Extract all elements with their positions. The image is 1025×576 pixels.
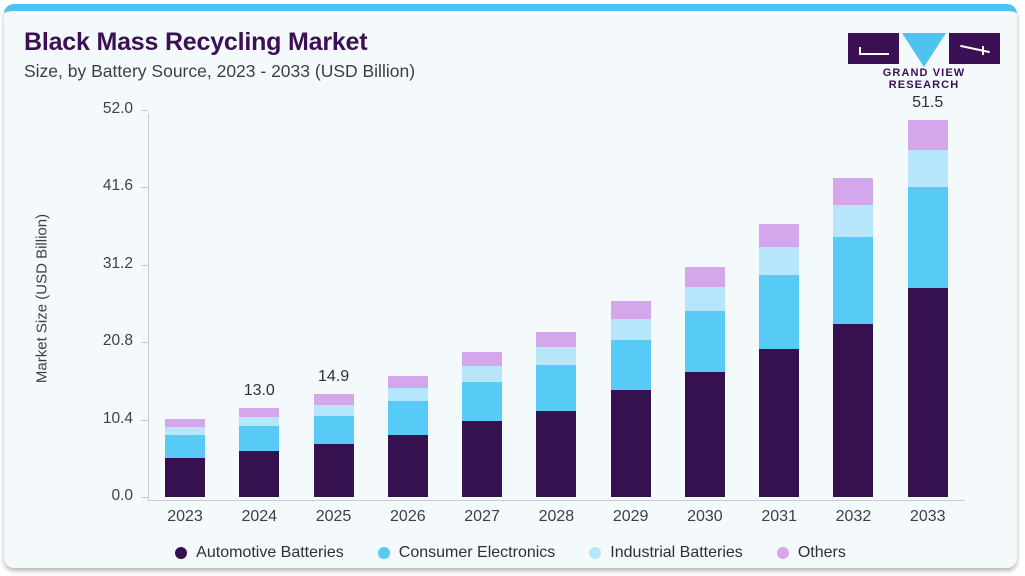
stacked-bar[interactable]: [314, 394, 354, 497]
y-axis-tick-label: 41.6: [45, 177, 133, 195]
legend-item[interactable]: Others: [777, 544, 846, 562]
bar-group[interactable]: 2027: [445, 114, 519, 501]
legend-color-dot-icon: [378, 547, 390, 559]
plot-area: 0.010.420.831.241.652.0 202313.0202414.9…: [148, 114, 965, 505]
bar-segment[interactable]: [908, 150, 948, 187]
logo-text: GRAND VIEW RESEARCH: [848, 67, 1000, 91]
stacked-bar[interactable]: [536, 332, 576, 497]
stacked-bar-chart: Market Size (USD Billion) 0.010.420.831.…: [4, 95, 1017, 568]
y-axis-tick-mark: [141, 110, 148, 111]
bar-group[interactable]: 13.02024: [222, 114, 296, 501]
stacked-bar[interactable]: [685, 267, 725, 497]
bar-segment[interactable]: [388, 376, 428, 388]
bar-segment[interactable]: [611, 301, 651, 319]
bar-segment[interactable]: [165, 419, 205, 427]
bar-segment[interactable]: [165, 427, 205, 435]
legend-item[interactable]: Consumer Electronics: [378, 544, 556, 562]
bar-segment[interactable]: [388, 435, 428, 498]
bar-segment[interactable]: [536, 332, 576, 348]
legend-item[interactable]: Industrial Batteries: [589, 544, 743, 562]
bar-group[interactable]: 14.92025: [297, 114, 371, 501]
legend-color-dot-icon: [175, 547, 187, 559]
bar-segment[interactable]: [462, 366, 502, 382]
legend-item[interactable]: Automotive Batteries: [175, 544, 344, 562]
logo-marks: [848, 33, 1000, 64]
bar-segment[interactable]: [239, 451, 279, 497]
bar-segment[interactable]: [165, 458, 205, 497]
legend-item-label: Consumer Electronics: [399, 544, 556, 562]
bar-segment[interactable]: [833, 237, 873, 325]
bar-group[interactable]: 51.52033: [891, 114, 965, 501]
stacked-bar[interactable]: [239, 408, 279, 497]
bars-container: 202313.0202414.9202520262027202820292030…: [148, 114, 965, 501]
bar-segment[interactable]: [685, 372, 725, 497]
chart-header: Black Mass Recycling Market Size, by Bat…: [4, 11, 1017, 95]
bar-group[interactable]: 2031: [742, 114, 816, 501]
bar-segment[interactable]: [314, 416, 354, 444]
bar-group[interactable]: 2032: [816, 114, 890, 501]
y-axis-tick-label: 10.4: [45, 410, 133, 428]
y-axis-tick-label: 52.0: [45, 100, 133, 118]
bar-value-label: 14.9: [287, 368, 381, 386]
bar-segment[interactable]: [388, 388, 428, 401]
logo-block-left-icon: [848, 33, 899, 64]
bar-segment[interactable]: [908, 120, 948, 150]
stacked-bar[interactable]: [833, 178, 873, 497]
legend-item-label: Others: [798, 544, 846, 562]
stacked-bar[interactable]: [462, 352, 502, 497]
y-axis-tick-mark: [141, 420, 148, 421]
bar-segment[interactable]: [759, 224, 799, 247]
bar-segment[interactable]: [314, 405, 354, 416]
bar-segment[interactable]: [239, 408, 279, 417]
x-axis-tick-label: 2033: [881, 508, 975, 526]
bar-segment[interactable]: [611, 390, 651, 497]
bar-segment[interactable]: [462, 421, 502, 497]
bar-group[interactable]: 2029: [594, 114, 668, 501]
y-axis-tick-label: 20.8: [45, 332, 133, 350]
bar-segment[interactable]: [833, 324, 873, 497]
bar-segment[interactable]: [536, 365, 576, 410]
bar-segment[interactable]: [536, 411, 576, 497]
bar-segment[interactable]: [833, 205, 873, 237]
chart-card: Black Mass Recycling Market Size, by Bat…: [4, 4, 1017, 568]
bar-group[interactable]: 2028: [519, 114, 593, 501]
logo-block-right-icon: [949, 33, 1000, 64]
bar-segment[interactable]: [239, 417, 279, 427]
page-title: Black Mass Recycling Market: [24, 28, 367, 57]
bar-segment[interactable]: [239, 426, 279, 451]
bar-segment[interactable]: [314, 444, 354, 497]
bar-segment[interactable]: [165, 435, 205, 457]
bar-segment[interactable]: [908, 288, 948, 497]
bar-segment[interactable]: [314, 394, 354, 404]
bar-segment[interactable]: [685, 267, 725, 287]
stacked-bar[interactable]: [611, 301, 651, 497]
legend-item-label: Automotive Batteries: [196, 544, 344, 562]
bar-segment[interactable]: [759, 349, 799, 497]
page-subtitle: Size, by Battery Source, 2023 - 2033 (US…: [24, 61, 415, 82]
bar-group[interactable]: 2030: [668, 114, 742, 501]
bar-segment[interactable]: [462, 352, 502, 366]
bar-segment[interactable]: [908, 187, 948, 287]
stacked-bar[interactable]: [388, 376, 428, 497]
legend-color-dot-icon: [777, 547, 789, 559]
stacked-bar[interactable]: [908, 120, 948, 497]
chart-legend: Automotive BatteriesConsumer Electronics…: [4, 544, 1017, 562]
bar-segment[interactable]: [462, 382, 502, 421]
bar-segment[interactable]: [759, 247, 799, 275]
legend-color-dot-icon: [589, 547, 601, 559]
legend-item-label: Industrial Batteries: [610, 544, 743, 562]
bar-segment[interactable]: [759, 275, 799, 349]
y-axis-tick-mark: [141, 187, 148, 188]
grand-view-research-logo: GRAND VIEW RESEARCH: [848, 33, 1000, 83]
logo-triangle-icon: [902, 33, 946, 67]
y-axis-tick-mark: [141, 265, 148, 266]
stacked-bar[interactable]: [165, 419, 205, 497]
y-axis-tick-mark: [141, 497, 148, 498]
y-axis-tick-label: 0.0: [45, 487, 133, 505]
bar-value-label: 51.5: [881, 94, 975, 112]
bar-group[interactable]: 2023: [148, 114, 222, 501]
bar-segment[interactable]: [611, 319, 651, 340]
bar-segment[interactable]: [536, 347, 576, 365]
bar-segment[interactable]: [611, 340, 651, 390]
y-axis-tick-mark: [141, 342, 148, 343]
bar-segment[interactable]: [388, 401, 428, 434]
y-axis-tick-label: 31.2: [45, 255, 133, 273]
bar-group[interactable]: 2026: [371, 114, 445, 501]
stacked-bar[interactable]: [759, 224, 799, 497]
bar-segment[interactable]: [833, 178, 873, 204]
bar-segment[interactable]: [685, 287, 725, 311]
bar-segment[interactable]: [685, 311, 725, 372]
